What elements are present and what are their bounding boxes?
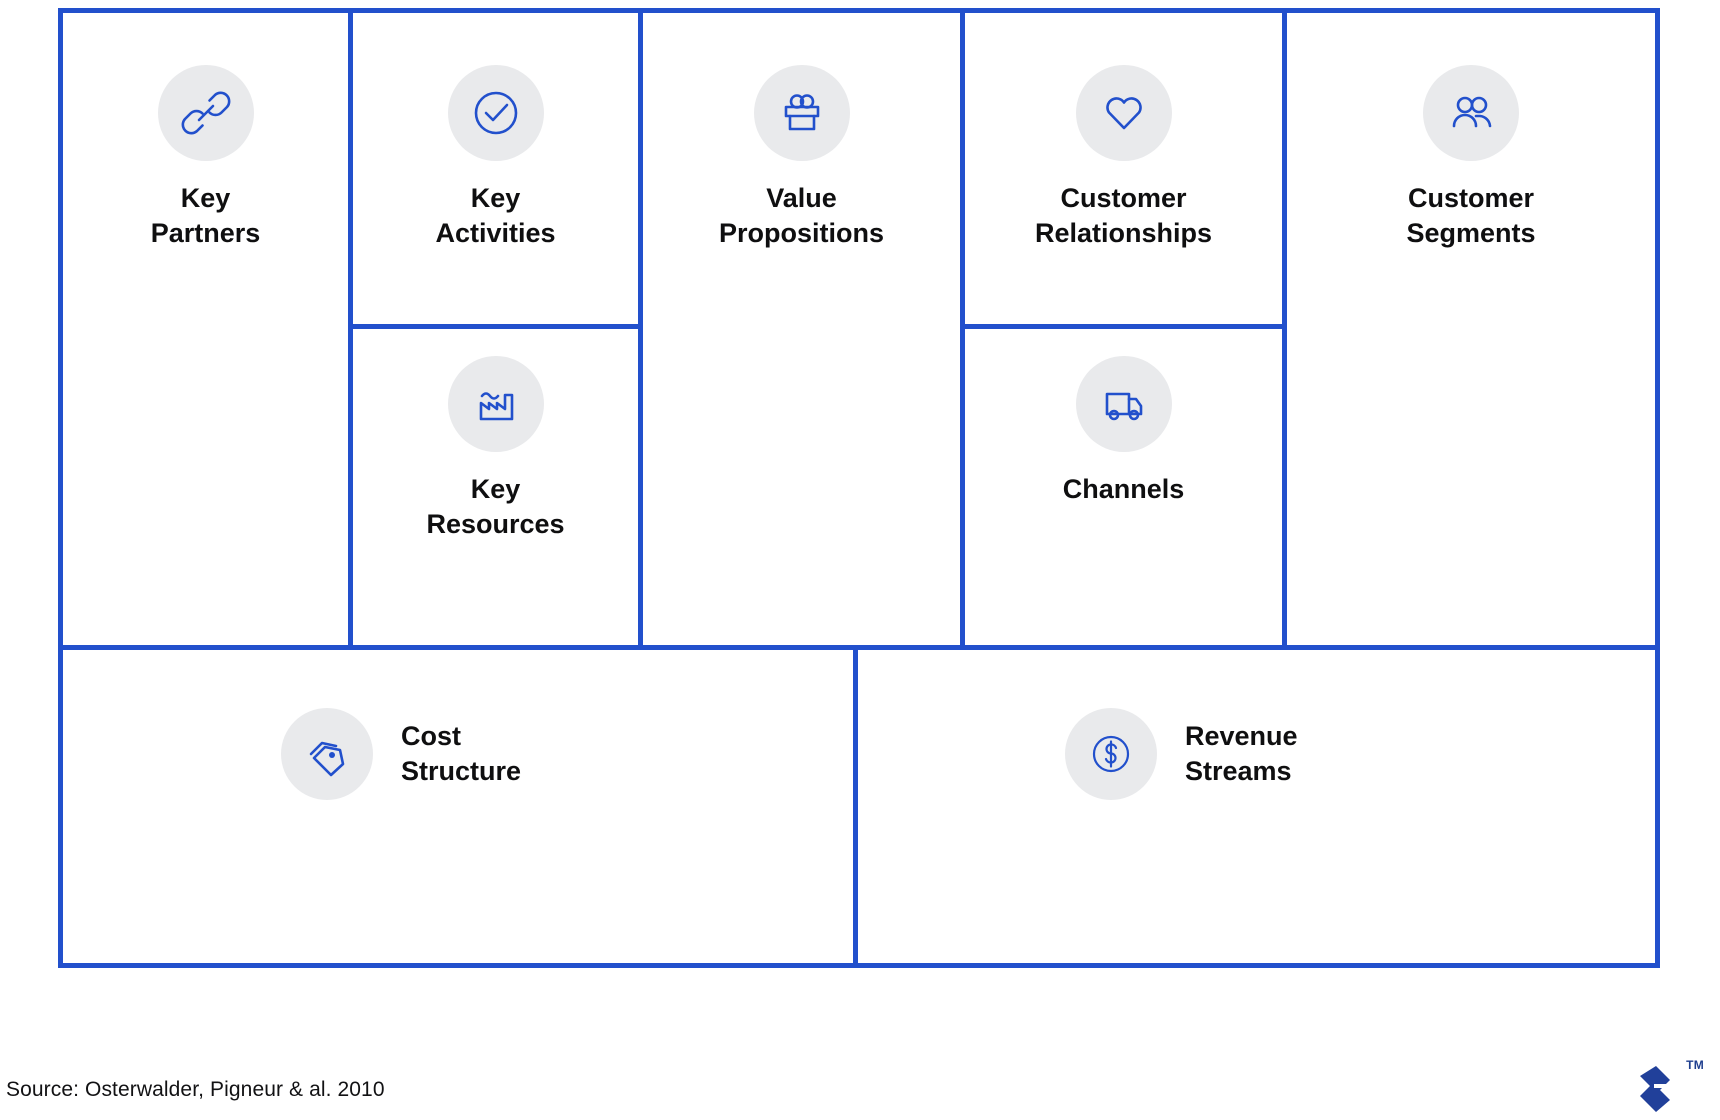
price-tag-icon xyxy=(281,708,373,800)
block-channels[interactable]: Channels xyxy=(965,329,1287,645)
block-content-key-activities: Key Activities xyxy=(353,65,638,250)
people-icon xyxy=(1423,65,1519,161)
trademark-symbol: TM xyxy=(1686,1058,1704,1072)
business-model-canvas: Key Partners Key Activities Key Resource xyxy=(58,8,1660,968)
block-content-value-propositions: Value Propositions xyxy=(643,65,960,250)
block-content-revenue-streams: Revenue Streams xyxy=(1065,708,1298,800)
brand-logo: TM xyxy=(1630,1056,1704,1108)
check-circle-icon xyxy=(448,65,544,161)
block-content-cost-structure: Cost Structure xyxy=(281,708,521,800)
block-content-key-partners: Key Partners xyxy=(63,65,348,250)
block-content-channels: Channels xyxy=(965,356,1282,507)
factory-icon xyxy=(448,356,544,452)
block-content-customer-segments: Customer Segments xyxy=(1287,65,1655,250)
source-attribution: Source: Osterwalder, Pigneur & al. 2010 xyxy=(6,1078,385,1102)
block-key-partners[interactable]: Key Partners xyxy=(63,13,353,645)
block-label-customer-relationships: Customer Relationships xyxy=(1035,181,1212,250)
block-content-key-resources: Key Resources xyxy=(353,356,638,541)
block-key-resources[interactable]: Key Resources xyxy=(353,329,643,645)
heart-icon xyxy=(1076,65,1172,161)
block-label-value-propositions: Value Propositions xyxy=(719,181,884,250)
block-label-customer-segments: Customer Segments xyxy=(1406,181,1535,250)
block-revenue-streams[interactable]: Revenue Streams xyxy=(863,650,1655,963)
block-customer-relationships[interactable]: Customer Relationships xyxy=(965,13,1287,329)
block-label-key-resources: Key Resources xyxy=(426,472,564,541)
truck-icon xyxy=(1076,356,1172,452)
block-label-revenue-streams: Revenue Streams xyxy=(1185,719,1298,788)
gift-icon xyxy=(754,65,850,161)
block-content-customer-relationships: Customer Relationships xyxy=(965,65,1282,250)
block-key-activities[interactable]: Key Activities xyxy=(353,13,643,329)
block-label-cost-structure: Cost Structure xyxy=(401,719,521,788)
block-cost-structure[interactable]: Cost Structure xyxy=(63,650,858,963)
link-icon xyxy=(158,65,254,161)
block-label-channels: Channels xyxy=(1063,472,1185,507)
block-value-propositions[interactable]: Value Propositions xyxy=(643,13,965,645)
block-label-key-partners: Key Partners xyxy=(151,181,261,250)
dollar-circle-icon xyxy=(1065,708,1157,800)
block-customer-segments[interactable]: Customer Segments xyxy=(1287,13,1655,645)
block-label-key-activities: Key Activities xyxy=(435,181,555,250)
